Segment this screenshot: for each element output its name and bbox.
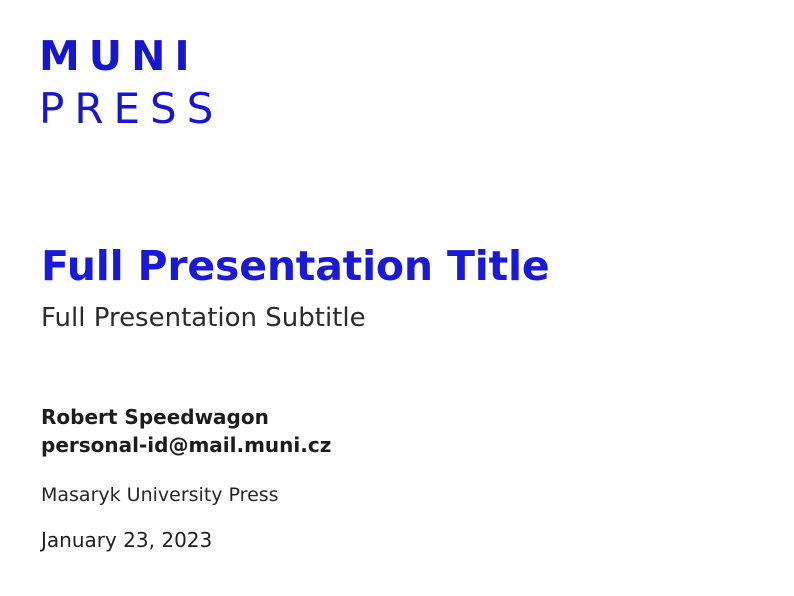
logo-press-text: PRESS [39, 85, 223, 133]
presentation-date: January 23, 2023 [41, 527, 741, 553]
title-block: Full Presentation Title Full Presentatio… [41, 243, 741, 335]
author-meta-block: Robert Speedwagon personal-id@mail.muni.… [41, 404, 741, 553]
author-name: Robert Speedwagon [41, 404, 741, 430]
presentation-subtitle: Full Presentation Subtitle [41, 301, 741, 335]
title-slide: MUNI PRESS Full Presentation Title Full … [0, 0, 794, 596]
author-email: personal-id@mail.muni.cz [41, 432, 741, 458]
logo-muni-text: MUNI [39, 34, 223, 78]
muni-press-logo: MUNI PRESS [39, 34, 223, 133]
affiliation: Masaryk University Press [41, 482, 741, 508]
presentation-title: Full Presentation Title [41, 243, 741, 289]
